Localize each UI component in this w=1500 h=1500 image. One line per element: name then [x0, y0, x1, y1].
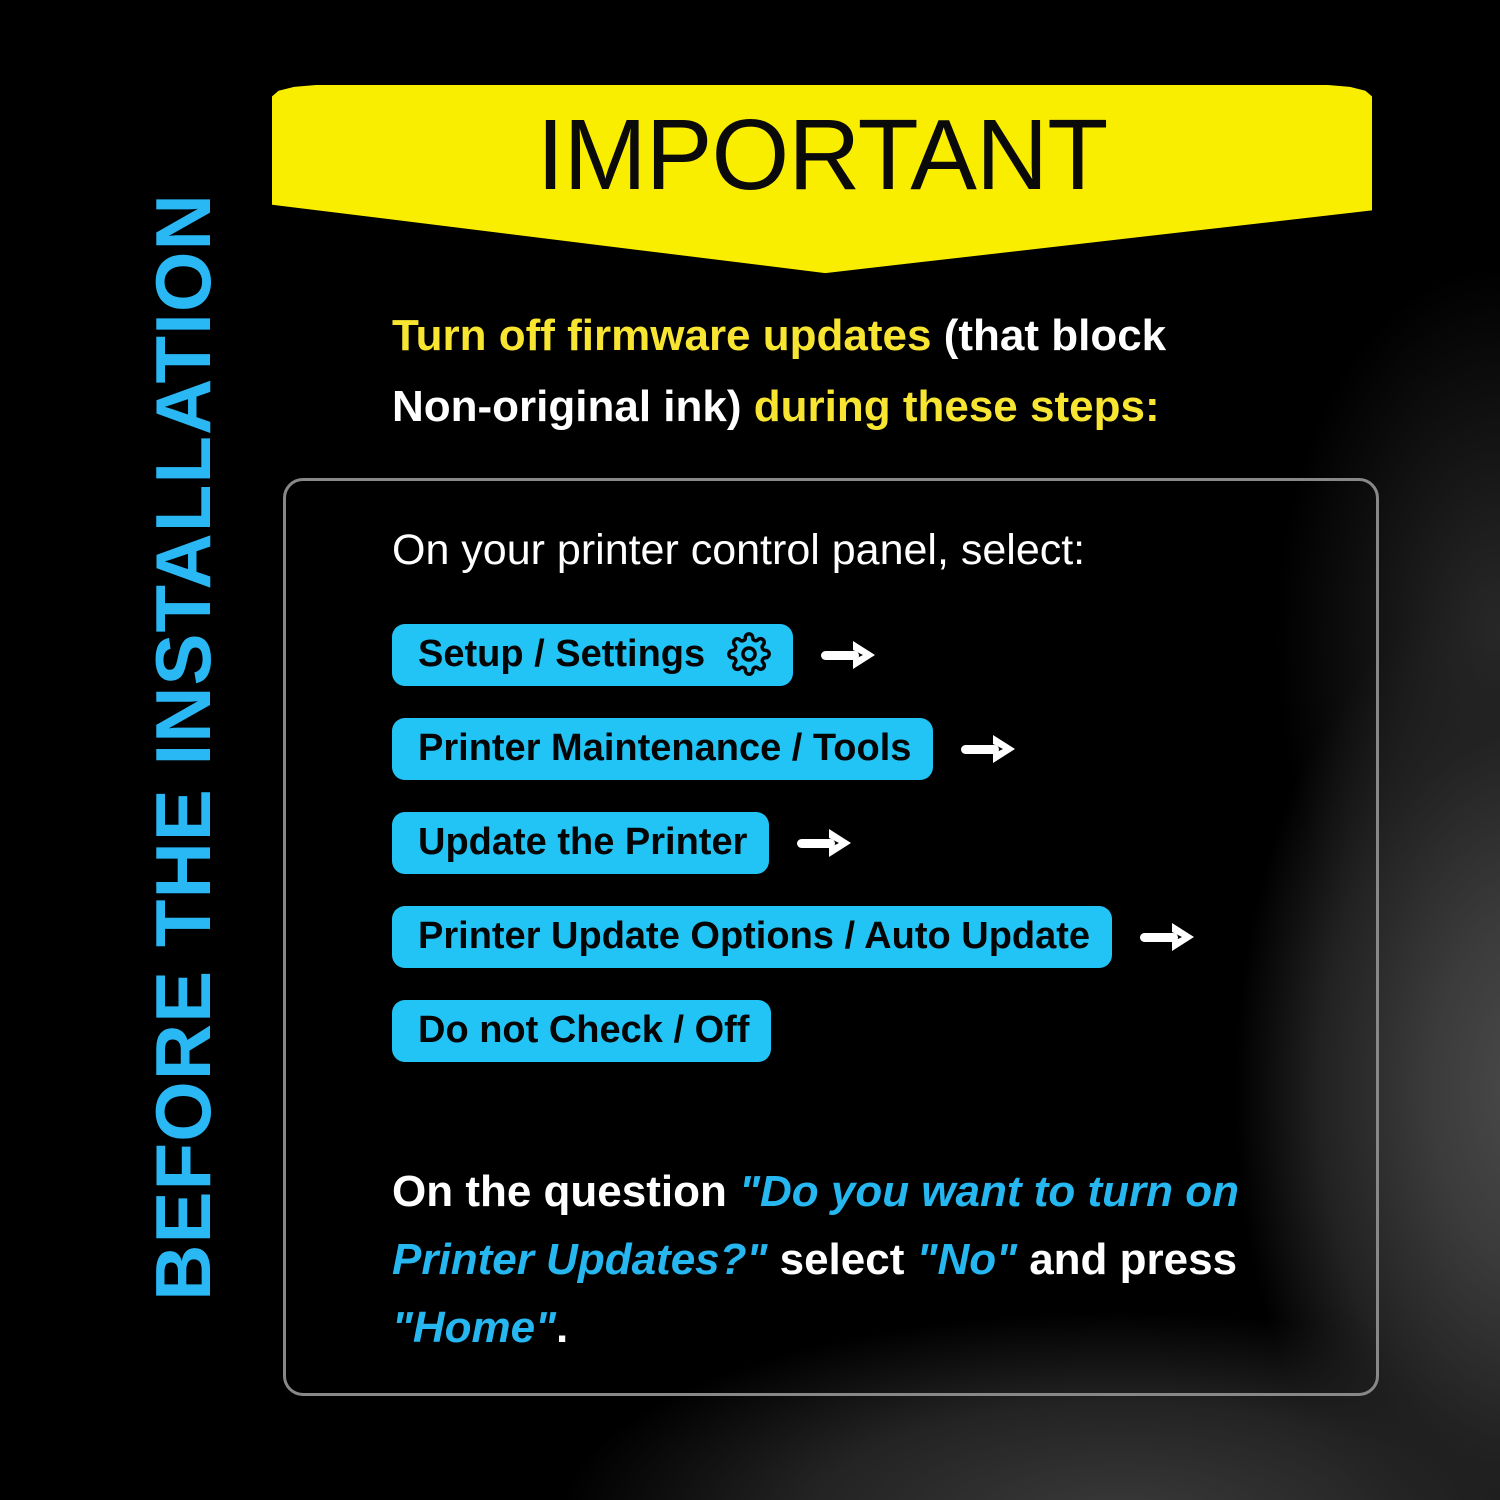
intro-headline: Turn off firmware updates (that block No… [392, 300, 1222, 443]
sidebar-title-text: BEFORE THE INSTALLATION [138, 193, 229, 1301]
chip-do-not-check-off[interactable]: Do not Check / Off [392, 1000, 771, 1062]
arrow-right-icon [819, 635, 879, 675]
important-banner-label: IMPORTANT [272, 103, 1372, 208]
panel-heading: On your printer control panel, select: [392, 525, 1292, 577]
closing-part-3: select [767, 1235, 916, 1284]
chip-label: Setup / Settings [418, 635, 705, 673]
chip-label: Update the Printer [418, 823, 747, 861]
arrow-right-icon [795, 823, 855, 863]
chip-label: Printer Maintenance / Tools [418, 729, 911, 767]
closing-part-5: and press [1017, 1235, 1237, 1284]
sidebar-vertical-title: BEFORE THE INSTALLATION [103, 77, 263, 1417]
page-background: BEFORE THE INSTALLATION IMPORTANT Turn o… [0, 0, 1500, 1500]
chip-setup-settings[interactable]: Setup / Settings [392, 624, 793, 686]
gear-icon [727, 632, 771, 676]
chip-label: Printer Update Options / Auto Update [418, 917, 1090, 955]
closing-no-cyan: "No" [917, 1235, 1017, 1284]
chip-printer-maintenance[interactable]: Printer Maintenance / Tools [392, 718, 933, 780]
chip-label: Do not Check / Off [418, 1011, 749, 1049]
step-row-setup-settings: Setup / Settings [392, 624, 879, 686]
important-banner: IMPORTANT [272, 85, 1372, 275]
intro-part-3: during these steps: [742, 382, 1160, 431]
arrow-right-icon [1138, 917, 1198, 957]
arrow-right-icon [959, 729, 1019, 769]
chip-printer-update-options[interactable]: Printer Update Options / Auto Update [392, 906, 1112, 968]
closing-paragraph: On the question "Do you want to turn on … [392, 1158, 1272, 1363]
step-row-do-not-check-off: Do not Check / Off [392, 1000, 771, 1062]
closing-part-1: On the question [392, 1167, 739, 1216]
chip-update-the-printer[interactable]: Update the Printer [392, 812, 769, 874]
step-row-printer-maintenance: Printer Maintenance / Tools [392, 718, 1019, 780]
step-row-printer-update-options: Printer Update Options / Auto Update [392, 906, 1198, 968]
closing-home-cyan: "Home" [392, 1303, 556, 1352]
step-row-update-the-printer: Update the Printer [392, 812, 855, 874]
intro-part-1: Turn off firmware updates [392, 311, 944, 360]
closing-part-7: . [556, 1303, 568, 1352]
